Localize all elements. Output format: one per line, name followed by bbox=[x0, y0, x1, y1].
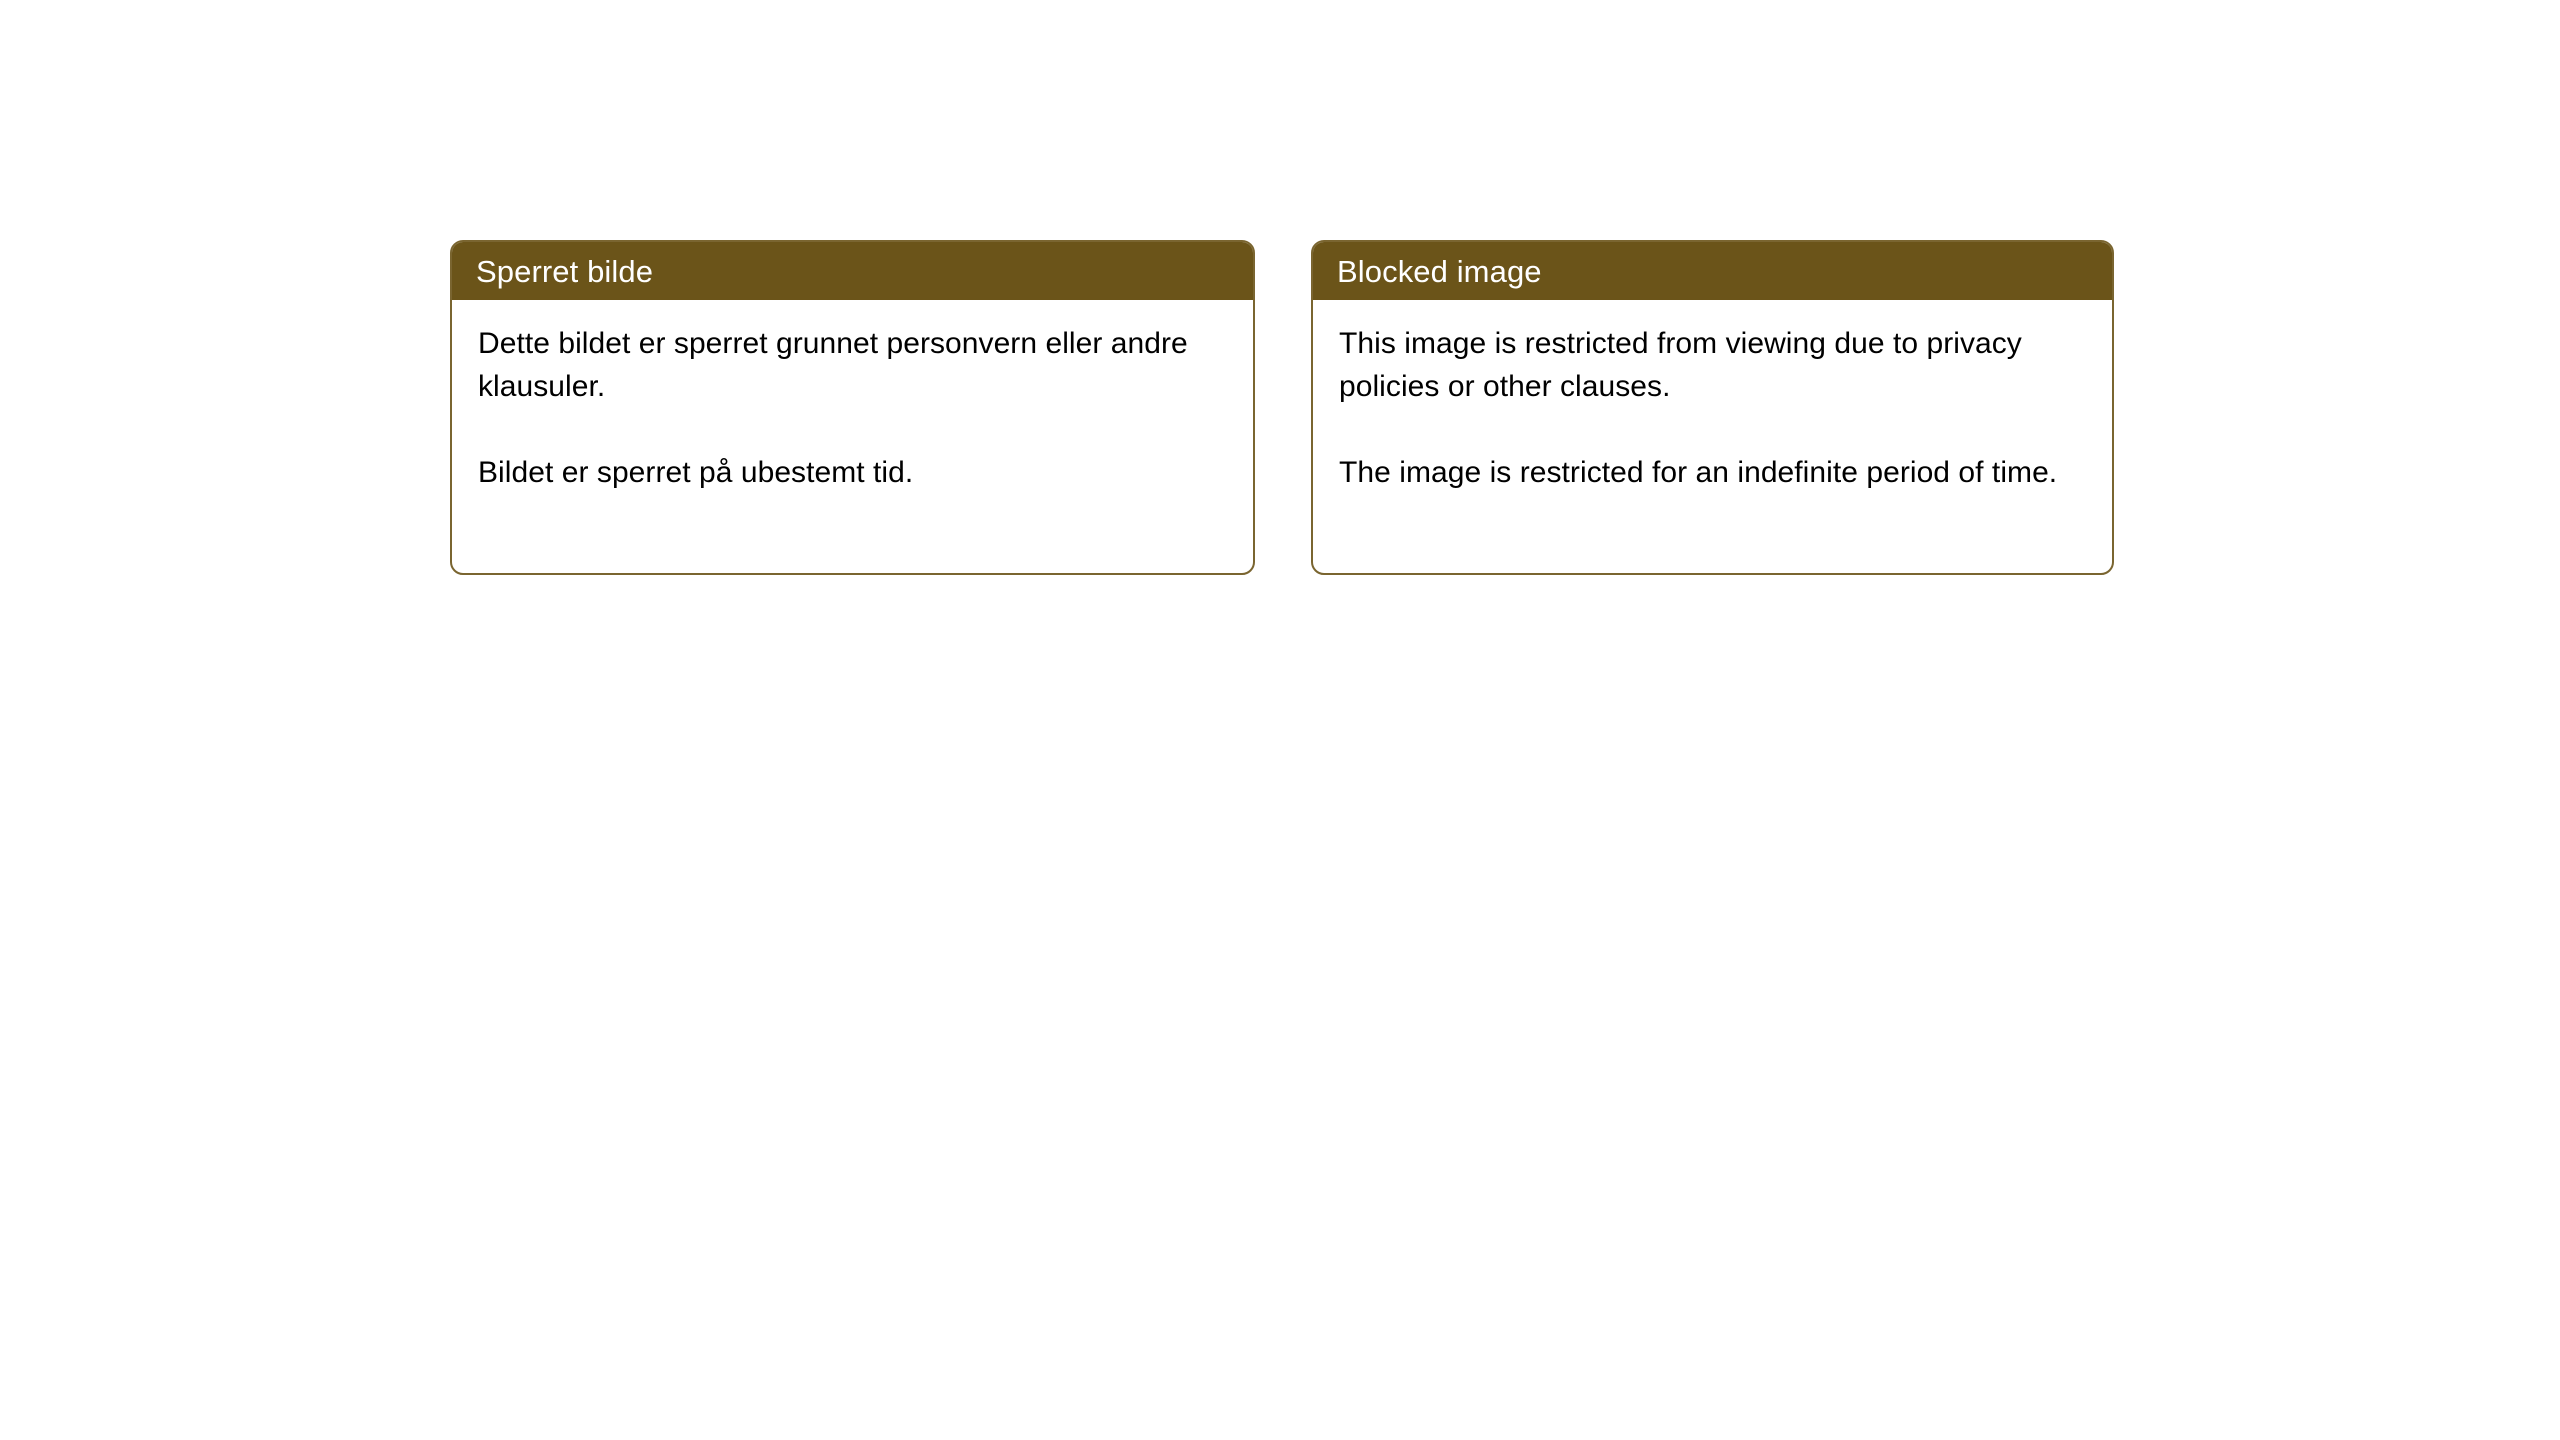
page-root: Sperret bilde Dette bildet er sperret gr… bbox=[0, 0, 2560, 1440]
card-paragraph-reason-english: This image is restricted from viewing du… bbox=[1339, 322, 2084, 408]
card-title-english: Blocked image bbox=[1337, 256, 1542, 287]
card-paragraph-reason-norwegian: Dette bildet er sperret grunnet personve… bbox=[478, 322, 1225, 408]
card-paragraph-duration-english: The image is restricted for an indefinit… bbox=[1339, 451, 2084, 494]
card-body-norwegian: Dette bildet er sperret grunnet personve… bbox=[452, 300, 1253, 494]
card-header-norwegian: Sperret bilde bbox=[452, 242, 1253, 300]
card-header-english: Blocked image bbox=[1313, 242, 2112, 300]
blocked-image-notice-english: Blocked image This image is restricted f… bbox=[1311, 240, 2114, 575]
card-title-norwegian: Sperret bilde bbox=[476, 256, 653, 287]
card-paragraph-duration-norwegian: Bildet er sperret på ubestemt tid. bbox=[478, 451, 1225, 494]
blocked-image-notice-norwegian: Sperret bilde Dette bildet er sperret gr… bbox=[450, 240, 1255, 575]
card-body-english: This image is restricted from viewing du… bbox=[1313, 300, 2112, 494]
